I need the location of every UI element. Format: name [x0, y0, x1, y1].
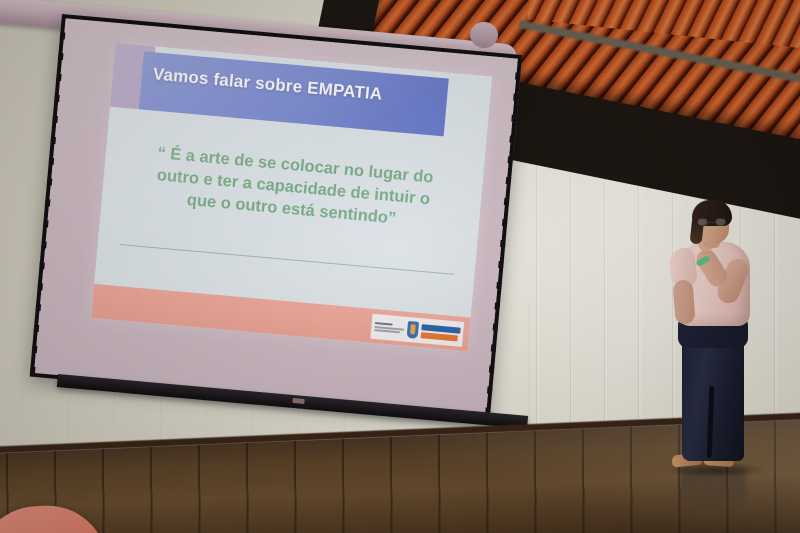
screenshot-root: Vamos falar sobre EMPATIA “ É a arte de … — [0, 0, 800, 533]
projection-screen-assembly: Vamos falar sobre EMPATIA “ É a arte de … — [0, 0, 560, 430]
glasses-icon — [697, 218, 726, 226]
logo-wordmark — [421, 324, 461, 341]
projected-slide: Vamos falar sobre EMPATIA “ É a arte de … — [91, 43, 492, 352]
presenter-arm-left — [672, 279, 695, 324]
logo-secondary-mark — [374, 318, 405, 339]
projection-screen[interactable]: Vamos falar sobre EMPATIA “ É a arte de … — [30, 14, 523, 418]
slide-divider-rule — [120, 244, 455, 275]
screen-pull-tab[interactable] — [292, 398, 304, 404]
shield-icon — [407, 321, 419, 339]
presenter-floor-reflection — [680, 468, 746, 512]
presenter — [660, 196, 780, 486]
slide-quote: “ É a arte de se colocar no lugar do out… — [123, 140, 464, 235]
